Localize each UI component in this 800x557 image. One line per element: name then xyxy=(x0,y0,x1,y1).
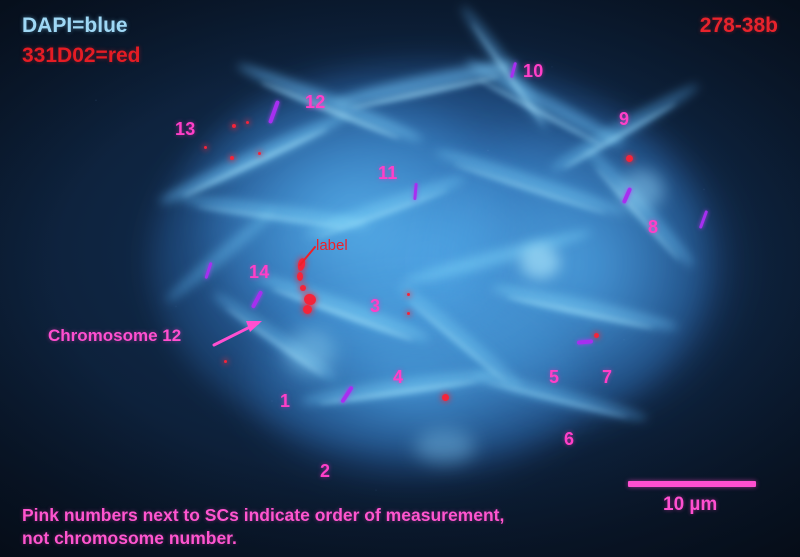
label-leader-line xyxy=(300,253,310,265)
probe-callout-text: label xyxy=(316,237,348,254)
probe-legend-text: 331D02=red xyxy=(22,44,141,68)
specimen-id-text: 278-38b xyxy=(700,14,778,38)
chromosome-12-arrow xyxy=(214,321,262,345)
scale-bar-label: 10 µm xyxy=(663,494,717,516)
microscopy-image: 1234567891011121314 DAPI=blue 331D02=red… xyxy=(0,0,800,557)
annotation-lines xyxy=(0,0,800,557)
label-leader-line-2 xyxy=(310,247,315,253)
figure-caption: Pink numbers next to SCs indicate order … xyxy=(22,504,504,550)
dapi-legend-text: DAPI=blue xyxy=(22,14,128,38)
scale-bar xyxy=(628,481,756,487)
chromosome-callout-text: Chromosome 12 xyxy=(48,326,181,346)
